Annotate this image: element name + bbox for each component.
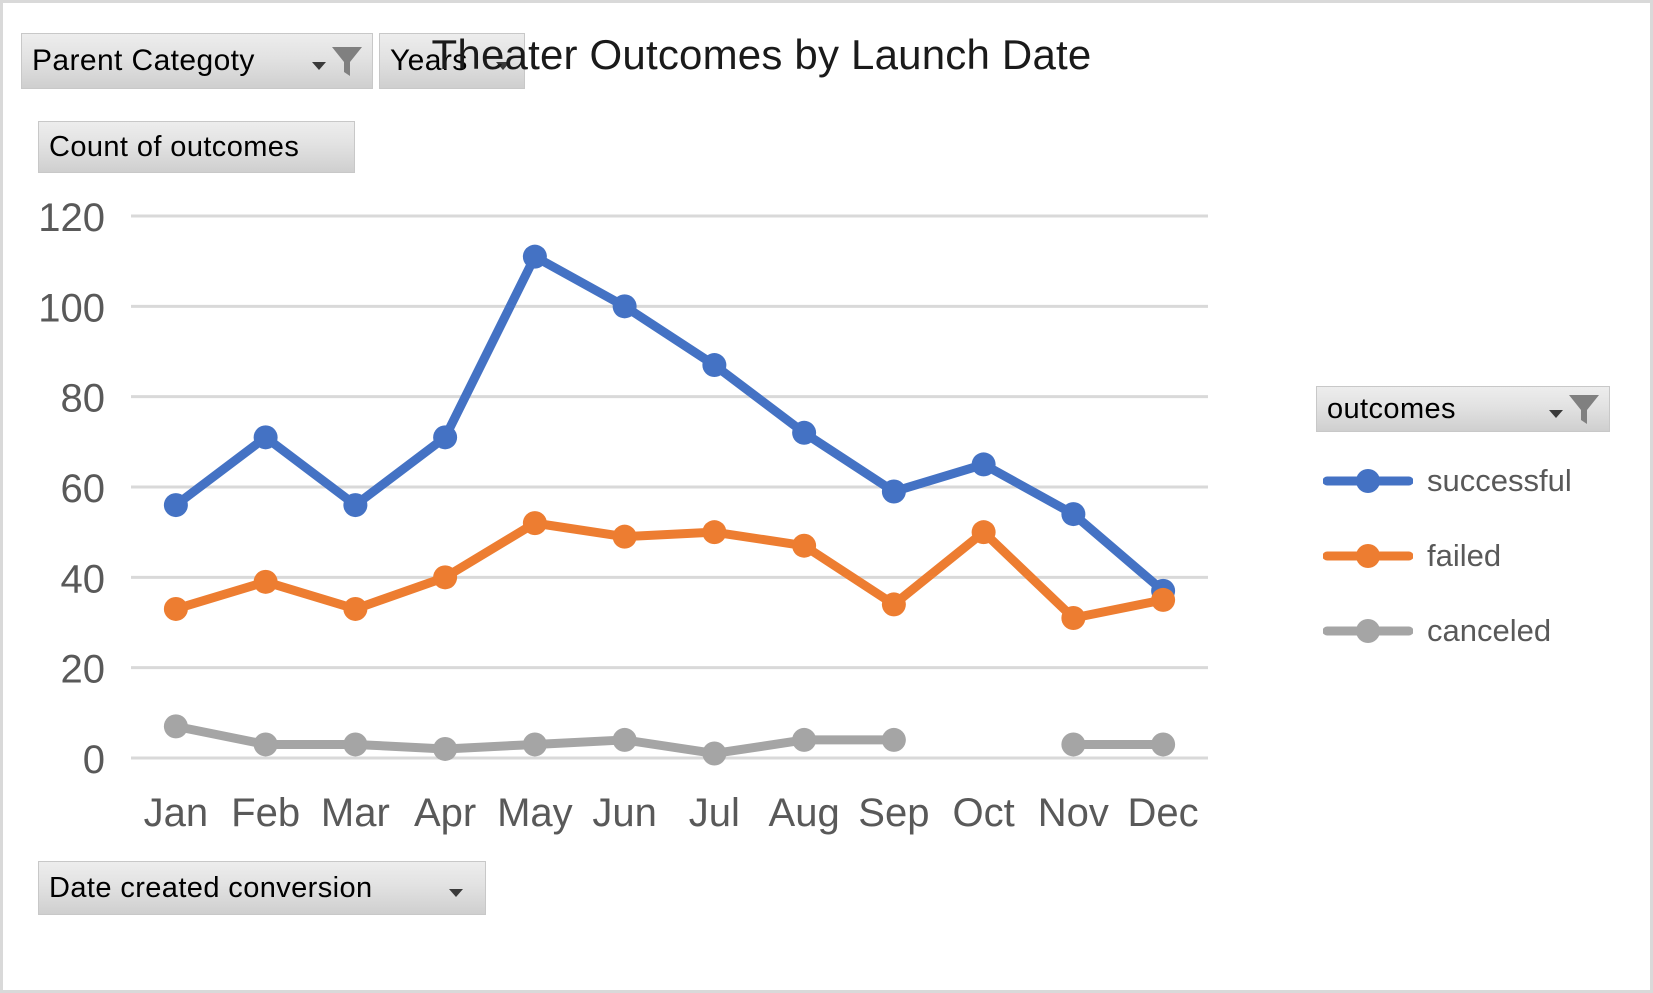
data-point-marker[interactable] xyxy=(613,525,637,549)
value-field-button-count-of-outcomes[interactable]: Count of outcomes xyxy=(38,121,355,173)
data-point-marker[interactable] xyxy=(164,493,188,517)
data-point-marker[interactable] xyxy=(882,728,906,752)
x-axis-tick-label: Oct xyxy=(953,791,1015,835)
y-axis-tick-label: 40 xyxy=(61,557,106,601)
x-axis-tick-label: Dec xyxy=(1128,791,1199,835)
data-point-marker[interactable] xyxy=(613,294,637,318)
data-point-marker[interactable] xyxy=(1151,732,1175,756)
data-point-marker[interactable] xyxy=(972,452,996,476)
axis-field-button-label: Date created conversion xyxy=(39,872,373,905)
data-point-marker[interactable] xyxy=(882,592,906,616)
data-point-marker[interactable] xyxy=(792,534,816,558)
legend-field-button-label: outcomes xyxy=(1317,393,1456,426)
y-axis-tick-labels: 020406080100120 xyxy=(38,196,105,782)
data-point-marker[interactable] xyxy=(613,728,637,752)
chevron-down-icon[interactable] xyxy=(1549,410,1563,418)
data-point-marker[interactable] xyxy=(523,511,547,535)
line-chart-svg: 020406080100120 JanFebMarAprMayJunJulAug… xyxy=(3,188,1283,848)
chart-legend: successfulfailedcanceled xyxy=(1323,443,1643,668)
data-point-marker[interactable] xyxy=(343,732,367,756)
pivot-chart-window: Parent Categoty Years Theater Outcomes b… xyxy=(0,0,1653,993)
x-axis-tick-label: Jan xyxy=(144,791,209,835)
series-line xyxy=(176,523,1163,618)
gridlines xyxy=(131,216,1208,758)
data-point-marker[interactable] xyxy=(523,732,547,756)
data-point-marker[interactable] xyxy=(433,425,457,449)
x-axis-tick-label: Mar xyxy=(321,791,390,835)
y-axis-tick-label: 0 xyxy=(83,738,105,782)
x-axis-tick-label: Aug xyxy=(769,791,840,835)
legend-item-label: failed xyxy=(1427,538,1501,574)
data-point-marker[interactable] xyxy=(433,737,457,761)
data-point-marker[interactable] xyxy=(882,480,906,504)
data-point-marker[interactable] xyxy=(1061,502,1085,526)
data-point-marker[interactable] xyxy=(343,493,367,517)
series-successful[interactable] xyxy=(164,245,1175,603)
x-axis-tick-labels: JanFebMarAprMayJunJulAugSepOctNovDec xyxy=(144,791,1199,835)
data-point-marker[interactable] xyxy=(972,520,996,544)
legend-item-label: canceled xyxy=(1427,613,1551,649)
legend-item-label: successful xyxy=(1427,463,1572,499)
chevron-down-icon[interactable] xyxy=(449,889,463,897)
y-axis-tick-label: 20 xyxy=(61,648,106,692)
x-axis-tick-label: Apr xyxy=(414,791,476,835)
value-field-button-label: Count of outcomes xyxy=(39,131,299,164)
legend-field-button-outcomes[interactable]: outcomes xyxy=(1316,386,1610,432)
x-axis-tick-label: Feb xyxy=(231,791,300,835)
data-point-marker[interactable] xyxy=(792,728,816,752)
data-point-marker[interactable] xyxy=(792,421,816,445)
x-axis-tick-label: Jul xyxy=(689,791,740,835)
legend-swatch-failed xyxy=(1323,541,1413,571)
data-point-marker[interactable] xyxy=(254,570,278,594)
data-point-marker[interactable] xyxy=(523,245,547,269)
data-point-marker[interactable] xyxy=(1061,732,1085,756)
x-axis-tick-label: May xyxy=(497,791,573,835)
data-point-marker[interactable] xyxy=(164,714,188,738)
y-axis-tick-label: 80 xyxy=(61,377,106,421)
data-point-marker[interactable] xyxy=(433,565,457,589)
x-axis-tick-label: Jun xyxy=(592,791,657,835)
data-point-marker[interactable] xyxy=(1151,588,1175,612)
legend-swatch-canceled xyxy=(1323,616,1413,646)
legend-item-successful[interactable]: successful xyxy=(1323,443,1643,518)
data-point-marker[interactable] xyxy=(1061,606,1085,630)
data-point-marker[interactable] xyxy=(702,520,726,544)
y-axis-tick-label: 120 xyxy=(38,196,105,240)
legend-item-failed[interactable]: failed xyxy=(1323,518,1643,593)
y-axis-tick-label: 60 xyxy=(61,467,106,511)
x-axis-tick-label: Sep xyxy=(858,791,929,835)
data-point-marker[interactable] xyxy=(164,597,188,621)
filter-funnel-icon[interactable] xyxy=(1567,391,1601,427)
series-failed[interactable] xyxy=(164,511,1175,630)
data-point-marker[interactable] xyxy=(702,353,726,377)
data-point-marker[interactable] xyxy=(702,741,726,765)
data-point-marker[interactable] xyxy=(254,732,278,756)
series-lines xyxy=(164,245,1175,766)
axis-field-button-date-created-conversion[interactable]: Date created conversion xyxy=(38,861,486,915)
x-axis-tick-label: Nov xyxy=(1038,791,1109,835)
chart-plot-area: 020406080100120 JanFebMarAprMayJunJulAug… xyxy=(3,188,1283,848)
data-point-marker[interactable] xyxy=(254,425,278,449)
y-axis-tick-label: 100 xyxy=(38,286,105,330)
legend-swatch-successful xyxy=(1323,466,1413,496)
data-point-marker[interactable] xyxy=(343,597,367,621)
legend-item-canceled[interactable]: canceled xyxy=(1323,593,1643,668)
chart-title: Theater Outcomes by Launch Date xyxy=(3,31,1650,79)
